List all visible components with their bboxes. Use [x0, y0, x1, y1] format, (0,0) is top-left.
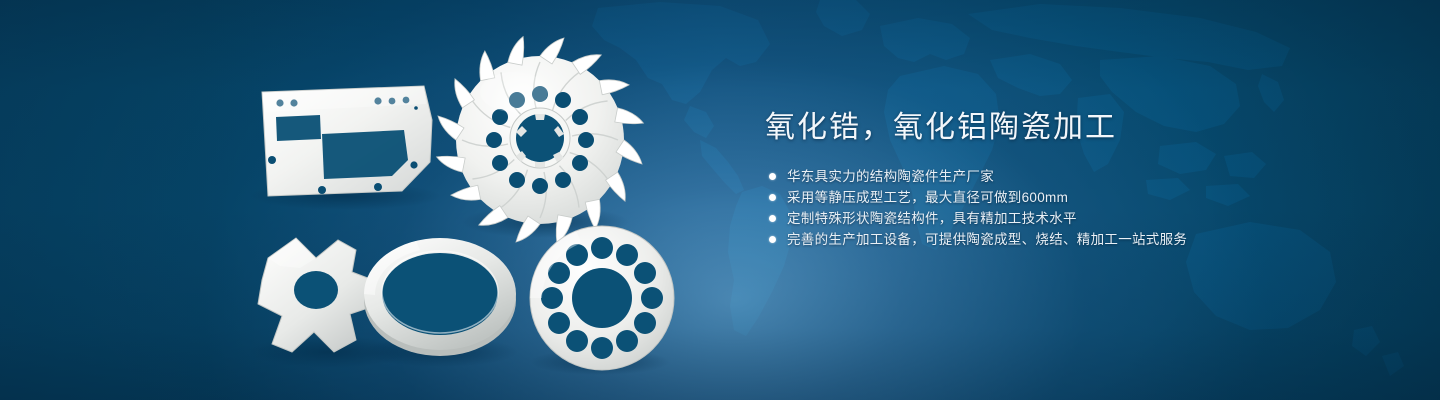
- list-item: 定制特殊形状陶瓷结构件，具有精加工技术水平: [765, 208, 1325, 229]
- list-item: 采用等静压成型工艺，最大直径可做到600mm: [765, 187, 1325, 208]
- bullet-icon: [769, 236, 776, 243]
- page-title: 氧化锆，氧化铝陶瓷加工: [765, 108, 1325, 148]
- product-ceramic-perforated-disc: [530, 226, 674, 370]
- product-ceramic-ring: [364, 238, 516, 356]
- hero-banner: 氧化锆，氧化铝陶瓷加工 华东具实力的结构陶瓷件生产厂家 采用等静压成型工艺，最大…: [0, 0, 1440, 400]
- list-item-label: 完善的生产加工设备，可提供陶瓷成型、烧结、精加工一站式服务: [787, 232, 1187, 247]
- product-ceramic-impeller: [437, 37, 644, 244]
- product-ceramic-flat-plate: [262, 86, 432, 196]
- list-item-label: 定制特殊形状陶瓷结构件，具有精加工技术水平: [787, 211, 1077, 226]
- bullet-icon: [769, 173, 776, 180]
- product-image-group: [0, 0, 740, 400]
- list-item-label: 华东具实力的结构陶瓷件生产厂家: [787, 169, 994, 184]
- bullet-icon: [769, 194, 776, 201]
- feature-list: 华东具实力的结构陶瓷件生产厂家 采用等静压成型工艺，最大直径可做到600mm 定…: [765, 166, 1325, 250]
- product-ceramic-cross-part: [258, 238, 378, 352]
- bullet-icon: [769, 215, 776, 222]
- list-item: 华东具实力的结构陶瓷件生产厂家: [765, 166, 1325, 187]
- list-item: 完善的生产加工设备，可提供陶瓷成型、烧结、精加工一站式服务: [765, 229, 1325, 250]
- banner-copy: 氧化锆，氧化铝陶瓷加工 华东具实力的结构陶瓷件生产厂家 采用等静压成型工艺，最大…: [765, 108, 1325, 250]
- list-item-label: 采用等静压成型工艺，最大直径可做到600mm: [787, 190, 1068, 205]
